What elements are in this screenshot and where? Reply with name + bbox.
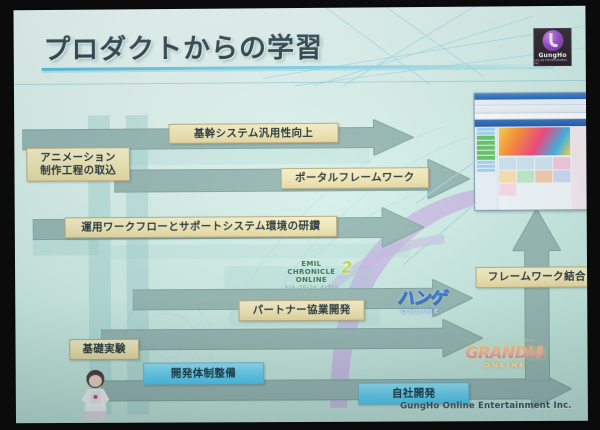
label-framework-join[interactable]: フレームワーク結合 — [476, 266, 588, 288]
website-screenshot-thumbnail — [474, 92, 588, 211]
site-body — [475, 126, 588, 211]
label-portal-framework[interactable]: ポータルフレームワーク — [281, 167, 429, 189]
site-sidebar — [475, 127, 499, 211]
site-rail — [571, 126, 588, 211]
site-main — [498, 126, 572, 211]
character-illustration — [78, 367, 112, 421]
hangame-wordmark: ハンゲ — [369, 289, 471, 308]
logo-grandia-online: ファンタジーアクションRPG GRANDIA ONLINE — [453, 339, 558, 384]
gungho-orb-icon — [542, 30, 563, 51]
label-partner-codev[interactable]: パートナー協業開発 — [239, 300, 365, 322]
arrow-grandia-line — [101, 319, 483, 359]
gungho-logo: GungHo ONLINE ENTERTAINMENT, INC. — [533, 28, 571, 66]
presentation-slide: プロダクトからの学習 GungHo ONLINE ENTERTAINMENT, … — [13, 6, 587, 423]
gungho-logo-sub: ONLINE ENTERTAINMENT, INC. — [535, 59, 571, 65]
label-animation-process[interactable]: アニメーション 制作工程の取込 — [26, 147, 130, 182]
label-basic-experiment[interactable]: 基礎実験 — [69, 339, 139, 360]
slide-footer-credit: GungHo Online Entertainment Inc. — [400, 401, 572, 412]
label-dev-structure[interactable]: 開発体制整備 — [143, 362, 264, 385]
logo-emil-chronicle-online: EMIL CHRONICLE ONLINE エミル・クロニクル・オンライン 2 — [272, 260, 350, 289]
hangame-online-text: ONLINE — [370, 307, 472, 316]
eco-subtitle: エミル・クロニクル・オンライン — [272, 284, 350, 289]
eco-sequel-badge: 2 — [341, 258, 352, 277]
logo-hangame-online: ハンゲ ONLINE — [369, 289, 471, 324]
page-title: プロダクトからの学習 — [43, 26, 323, 67]
grandia-wordmark: GRANDIA — [453, 344, 557, 362]
site-thumb-grid — [498, 156, 572, 197]
slide-header: プロダクトからの学習 GungHo ONLINE ENTERTAINMENT, … — [13, 6, 585, 88]
site-hero-banner — [499, 127, 570, 156]
label-core-system[interactable]: 基幹システム汎用性向上 — [169, 123, 339, 144]
label-workflow-support[interactable]: 運用ワークフローとサポートシステム環境の研鑽 — [65, 216, 338, 239]
photo-frame: プロダクトからの学習 GungHo ONLINE ENTERTAINMENT, … — [0, 0, 600, 430]
